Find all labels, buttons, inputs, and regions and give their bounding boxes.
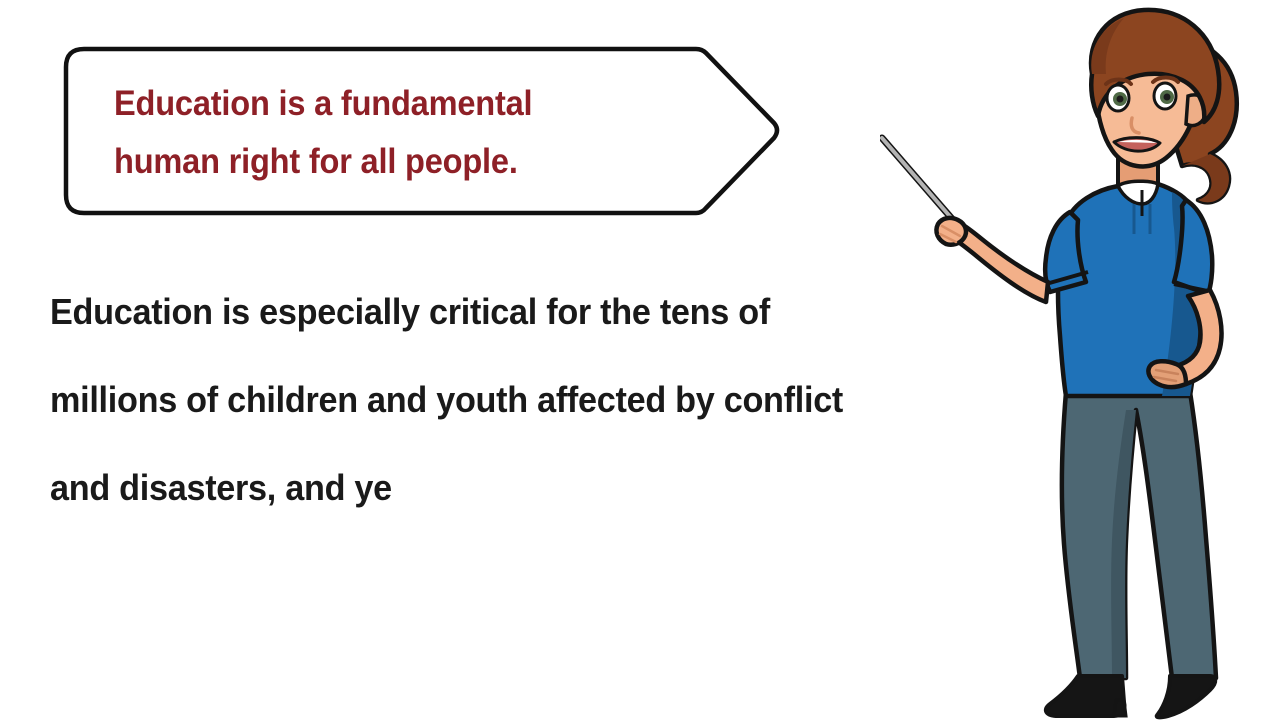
body-paragraph-line-3: and disasters, and ye xyxy=(50,444,962,532)
shoes xyxy=(1046,676,1215,717)
speech-banner-line-1: Education is a fundamental xyxy=(114,75,653,133)
trousers xyxy=(1062,392,1216,678)
speech-banner-line-2: human right for all people. xyxy=(114,133,653,191)
body-paragraph-line-2: millions of children and youth affected … xyxy=(50,356,962,444)
right-arm-extended xyxy=(936,212,1088,302)
speech-banner: Education is a fundamental human right f… xyxy=(62,45,784,217)
speech-banner-text: Education is a fundamental human right f… xyxy=(114,63,694,203)
pointer-stick-icon xyxy=(882,138,960,228)
body-paragraph: Education is especially critical for the… xyxy=(50,268,1010,532)
body-paragraph-line-1: Education is especially critical for the… xyxy=(50,268,962,356)
teacher-illustration xyxy=(880,0,1280,720)
slide-canvas: Education is a fundamental human right f… xyxy=(0,0,1280,720)
